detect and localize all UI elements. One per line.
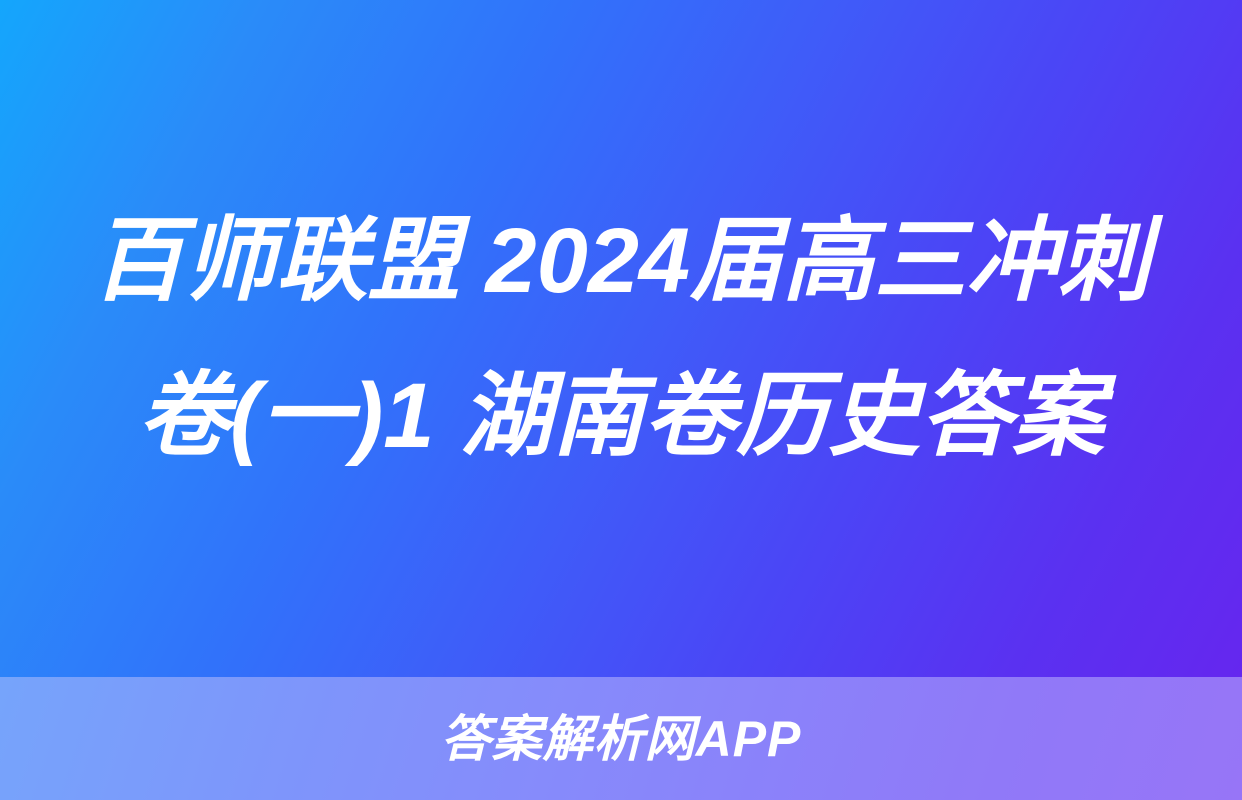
watermark-band: 答案解析网APP xyxy=(0,677,1242,800)
cover-card: 百师联盟 2024届高三冲刺卷(一)1 湖南卷历史答案 答案解析网APP xyxy=(0,0,1242,800)
title-area: 百师联盟 2024届高三冲刺卷(一)1 湖南卷历史答案 xyxy=(0,0,1242,677)
watermark-text: 答案解析网APP xyxy=(441,714,802,764)
page-title: 百师联盟 2024届高三冲刺卷(一)1 湖南卷历史答案 xyxy=(76,184,1166,494)
